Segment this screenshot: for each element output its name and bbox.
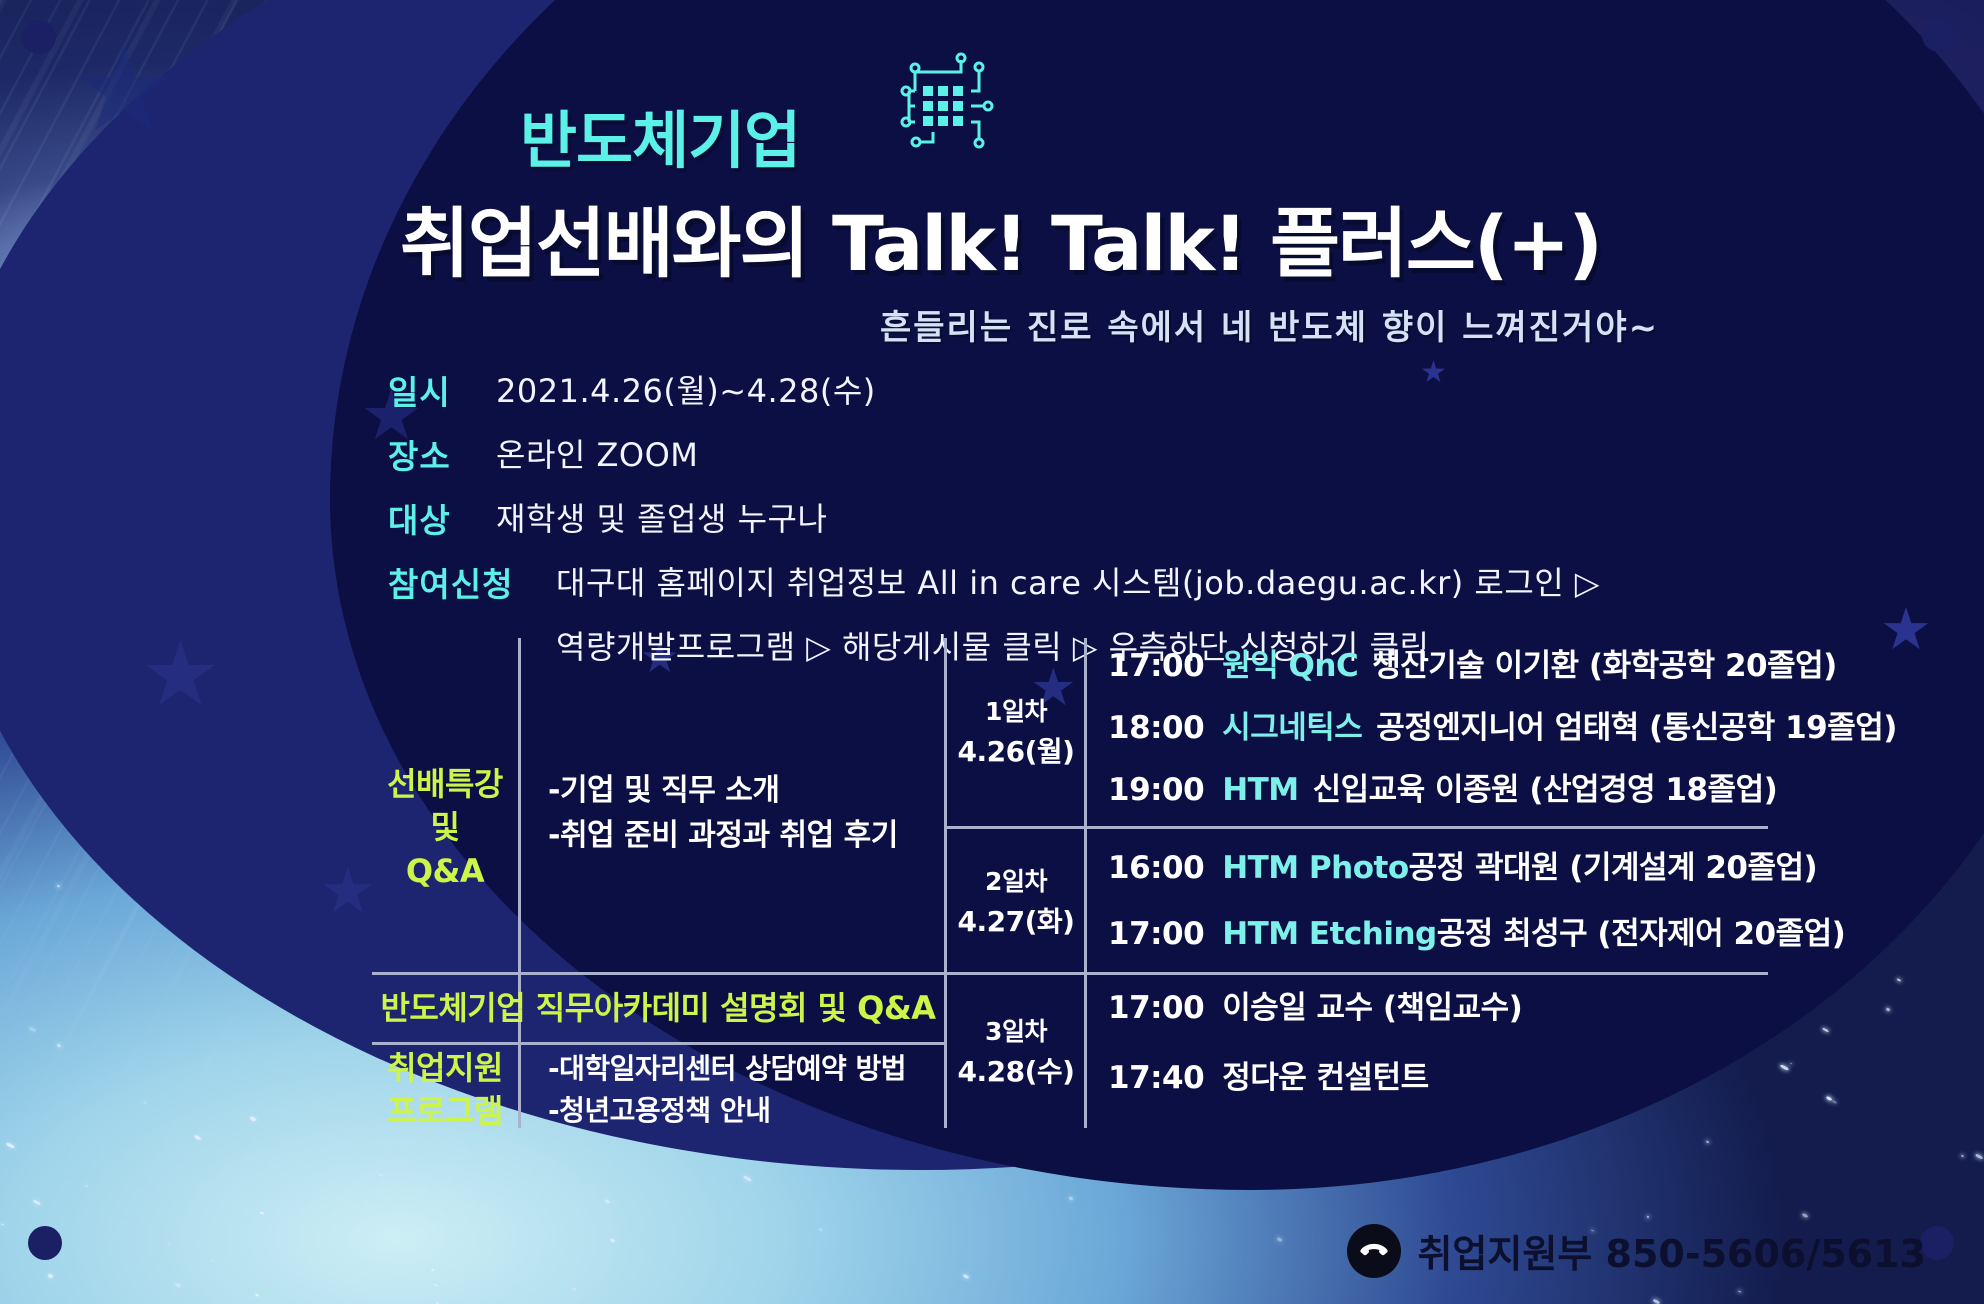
session-time: 19:00: [1108, 769, 1204, 812]
day-date-2: 4.27(화): [958, 901, 1075, 943]
info-value-target: 재학생 및 졸업생 누구나: [496, 494, 827, 540]
session-time: 16:00: [1108, 847, 1204, 890]
category-desc-line-1: -기업 및 직무 소개: [548, 768, 779, 813]
info-row-apply: 참여신청 대구대 홈페이지 취업정보 All in care 시스템(job.d…: [388, 558, 1708, 606]
session-time: 17:00: [1108, 913, 1204, 956]
session-org: HTM: [1222, 769, 1298, 812]
category-line-1: 선배특강: [387, 763, 503, 806]
schedule-table: 선배특강 및 Q&A -기업 및 직무 소개 -취업 준비 과정과 취업 후기 …: [372, 638, 1768, 1168]
session-org: HTM Etching: [1222, 913, 1437, 956]
day-number-1: 1일차: [985, 693, 1047, 731]
poster-kicker: 반도체기업: [520, 90, 800, 180]
poster-tagline: 흔들리는 진로 속에서 네 반도체 향이 느껴진거야~: [880, 300, 1659, 349]
category-line-2: 및: [431, 806, 460, 849]
info-row-target: 대상 재학생 및 졸업생 누구나: [388, 494, 1708, 542]
table-divider-vertical: [944, 638, 947, 1128]
session-time: 17:00: [1108, 987, 1204, 1030]
info-block: 일시 2021.4.26(월)~4.28(수) 장소 온라인 ZOOM 대상 재…: [388, 366, 1708, 668]
table-divider-horizontal: [372, 972, 1768, 975]
category-desc-mentor-talk: -기업 및 직무 소개 -취업 준비 과정과 취업 후기: [548, 768, 928, 888]
poster-title: 취업선배와의 Talk! Talk! 플러스(+): [400, 182, 1601, 292]
day-cell-2: 2일차 4.27(화): [952, 850, 1080, 956]
category-desc-job-support: -대학일자리센터 상담예약 방법 -청년고용정책 안내: [548, 1048, 938, 1134]
table-divider-vertical: [1084, 638, 1087, 1128]
info-value-date: 2021.4.26(월)~4.28(수): [496, 366, 876, 412]
info-row-place: 장소 온라인 ZOOM: [388, 430, 1708, 478]
session-row: 18:00 시그네틱스 공정엔지니어 엄태혁 (통신공학 19졸업): [1108, 700, 1768, 758]
phone-icon: [1347, 1224, 1401, 1278]
session-detail: 정다운 컨설턴트: [1222, 1057, 1428, 1100]
session-row: 17:40 정다운 컨설턴트: [1108, 1050, 1768, 1108]
session-time: 17:00: [1108, 645, 1204, 688]
category-line-3: Q&A: [406, 850, 484, 893]
info-label-place: 장소: [388, 430, 496, 478]
table-divider-horizontal: [944, 826, 1768, 829]
session-row: 17:00 이승일 교수 (책임교수): [1108, 980, 1768, 1038]
category-label-mentor-talk: 선배특강 및 Q&A: [372, 728, 518, 928]
info-label-apply: 참여신청: [388, 558, 556, 606]
category-line-2: 프로그램: [387, 1090, 503, 1133]
category-label-job-support: 취업지원 프로그램: [372, 1050, 518, 1130]
session-time: 17:40: [1108, 1057, 1204, 1100]
category-line-1: 취업지원: [387, 1047, 503, 1090]
poster-content: 반도체기업: [0, 0, 1984, 1304]
session-org: 시그네틱스: [1222, 707, 1362, 750]
footer-contact: 취업지원부 850-5606/5613: [1347, 1223, 1926, 1278]
footer-text: 취업지원부 850-5606/5613: [1417, 1223, 1926, 1278]
table-divider-horizontal: [372, 1042, 944, 1045]
category-desc-line-2: -청년고용정책 안내: [548, 1090, 770, 1132]
category-desc-line-2: -취업 준비 과정과 취업 후기: [548, 813, 898, 858]
day-number-2: 2일차: [985, 863, 1047, 901]
session-row: 19:00 HTM 신입교육 이종원 (산업경영 18졸업): [1108, 762, 1768, 820]
session-row: 17:00 HTM Etching 공정 최성구 (전자제어 20졸업): [1108, 906, 1768, 964]
info-label-target: 대상: [388, 494, 496, 542]
day-date-1: 4.26(월): [958, 731, 1075, 773]
category-label-text: 반도체기업 직무아카데미 설명회 및 Q&A: [380, 987, 935, 1030]
category-label-job-academy: 반도체기업 직무아카데미 설명회 및 Q&A: [372, 978, 944, 1040]
day-cell-1: 1일차 4.26(월): [952, 680, 1080, 786]
info-row-date: 일시 2021.4.26(월)~4.28(수): [388, 366, 1708, 414]
session-detail: 공정 최성구 (전자제어 20졸업): [1437, 913, 1846, 956]
day-date-3: 4.28(수): [958, 1051, 1075, 1093]
session-detail: 신입교육 이종원 (산업경영 18졸업): [1313, 769, 1778, 812]
day-cell-3: 3일차 4.28(수): [952, 1000, 1080, 1106]
category-desc-line-1: -대학일자리센터 상담예약 방법: [548, 1048, 906, 1090]
session-row: 16:00 HTM Photo 공정 곽대원 (기계설계 20졸업): [1108, 840, 1768, 898]
session-row: 17:00 원익 QnC 생산기술 이기환 (화학공학 20졸업): [1108, 638, 1768, 696]
info-label-date: 일시: [388, 366, 496, 414]
session-detail: 공정 곽대원 (기계설계 20졸업): [1409, 847, 1818, 890]
table-divider-vertical: [518, 638, 521, 1128]
session-org: HTM Photo: [1222, 847, 1408, 890]
session-detail: 생산기술 이기환 (화학공학 20졸업): [1372, 645, 1837, 688]
poster-root: ★ ★ ★ ★ ★ ★ ★ ★ 반도체기업: [0, 0, 1984, 1304]
day-number-3: 3일차: [985, 1013, 1047, 1051]
info-value-place: 온라인 ZOOM: [496, 430, 698, 476]
info-value-apply: 대구대 홈페이지 취업정보 All in care 시스템(job.daegu.…: [556, 558, 1600, 604]
semiconductor-chip-icon: [875, 50, 1005, 164]
session-org: 원익 QnC: [1222, 645, 1358, 688]
session-time: 18:00: [1108, 707, 1204, 750]
session-detail: 공정엔지니어 엄태혁 (통신공학 19졸업): [1376, 707, 1897, 750]
session-detail: 이승일 교수 (책임교수): [1222, 987, 1522, 1030]
